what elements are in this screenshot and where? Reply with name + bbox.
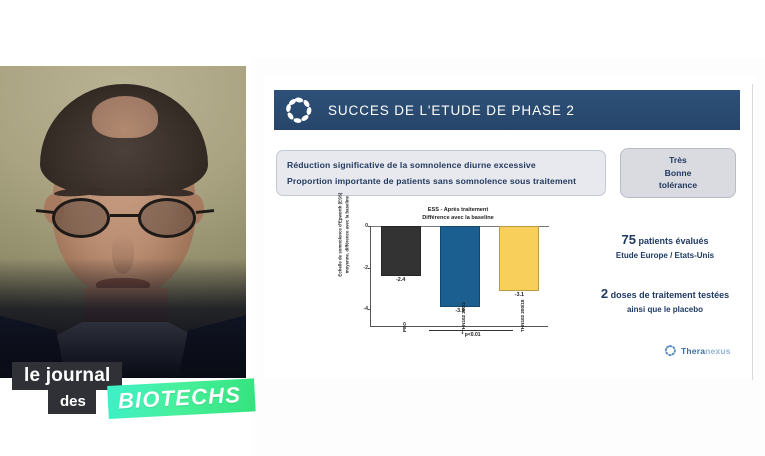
glasses-bridge bbox=[110, 214, 140, 217]
slide-title: SUCCES DE L'ETUDE DE PHASE 2 bbox=[328, 103, 575, 118]
chart-x-tick-label: THN102 200/18 bbox=[520, 300, 525, 332]
significance-label: * p<0.01 bbox=[429, 332, 513, 338]
significance-bracket bbox=[429, 330, 513, 331]
stat-patients-sub: Etude Europe / Etats-Unis bbox=[582, 250, 748, 263]
key-point-2: Proportion importante de patients sans s… bbox=[287, 174, 595, 190]
chart-y-tickmark-0 bbox=[368, 226, 372, 227]
chart-title-line-1: ESS - Après traitement bbox=[368, 206, 548, 214]
theranexus-brand: Theranexus bbox=[664, 344, 731, 357]
glasses-lens-left bbox=[52, 198, 110, 238]
theranexus-wordmark: Theranexus bbox=[681, 346, 731, 356]
chart-bar bbox=[381, 226, 421, 276]
chart-title-line-2: Différence avec la baseline bbox=[368, 214, 548, 222]
lower-third-line-3: BIOTECHS bbox=[107, 378, 256, 419]
brand-name-bold: Thera bbox=[681, 346, 705, 356]
slide-header-bar: SUCCES DE L'ETUDE DE PHASE 2 bbox=[274, 90, 740, 130]
key-point-1: Réduction significative de la somnolence… bbox=[287, 158, 595, 174]
chart-bar bbox=[440, 226, 480, 307]
chart-y-tick-1: -2 bbox=[358, 265, 368, 271]
tolerance-line-2: Bonne bbox=[665, 167, 692, 179]
stat-doses-main: 2 doses de traitement testées bbox=[582, 284, 748, 304]
glasses-lens-right bbox=[138, 198, 196, 238]
chart-bar-value: -3.1 bbox=[499, 292, 539, 298]
broadcast-stage: le journal des BIOTECHS Boursorama bbox=[0, 0, 765, 456]
stat-block-patients: 75 patients évalués Etude Europe / Etats… bbox=[582, 230, 748, 262]
boursorama-watermark: Boursorama bbox=[649, 8, 749, 24]
y-axis-label-line-2: moyenne, différence avec la baseline bbox=[344, 177, 351, 293]
stat-doses-text: doses de traitement testées bbox=[608, 290, 729, 300]
chart-bar bbox=[499, 226, 539, 291]
theranexus-burst-icon bbox=[284, 95, 314, 125]
lower-third-line-2: des bbox=[48, 390, 96, 414]
chart-title: ESS - Après traitement Différence avec l… bbox=[368, 206, 548, 223]
chart-y-tick-2: -4 bbox=[358, 306, 368, 312]
chart-y-tick-0: 0 bbox=[358, 223, 368, 229]
stat-patients-text: patients évalués bbox=[636, 236, 709, 246]
ess-bar-chart: ESS - Après traitement Différence avec l… bbox=[330, 206, 560, 364]
speaker-forehead bbox=[92, 96, 158, 138]
stat-doses-number: 2 bbox=[601, 286, 608, 301]
chart-bar-value: -3.9 bbox=[440, 308, 480, 314]
chart-y-axis-label: Echelle de somnolence d'Epworth (ESS) mo… bbox=[337, 177, 350, 293]
theranexus-burst-icon bbox=[664, 344, 677, 357]
y-axis-label-line-1: Echelle de somnolence d'Epworth (ESS) bbox=[337, 177, 344, 293]
slide-stats: 75 patients évalués Etude Europe / Etats… bbox=[582, 230, 748, 339]
brand-name-light: nexus bbox=[705, 346, 731, 356]
speaker-glasses-icon bbox=[48, 198, 202, 238]
presentation-slide: SUCCES DE L'ETUDE DE PHASE 2 Réduction s… bbox=[264, 76, 756, 378]
stat-patients-number: 75 bbox=[621, 232, 635, 247]
tolerance-line-1: Très bbox=[669, 154, 687, 166]
video-vignette bbox=[0, 258, 246, 378]
chart-y-tickmark-1 bbox=[368, 268, 372, 269]
chart-x-tick-label: PBO bbox=[402, 322, 407, 332]
tolerance-box: Très Bonne tolérance bbox=[620, 148, 736, 198]
lower-third-banner: le journal des BIOTECHS bbox=[12, 362, 242, 416]
tolerance-line-3: tolérance bbox=[659, 179, 697, 191]
boursorama-label: Boursorama bbox=[671, 9, 749, 24]
chart-y-tickmark-2 bbox=[368, 309, 372, 310]
chart-bar-value: -2.4 bbox=[381, 277, 421, 283]
stat-patients-main: 75 patients évalués bbox=[582, 230, 748, 250]
stat-block-doses: 2 doses de traitement testées ainsi que … bbox=[582, 284, 748, 316]
stat-doses-sub: ainsi que le placebo bbox=[582, 304, 748, 317]
key-points-box: Réduction significative de la somnolence… bbox=[276, 150, 606, 196]
lower-third-line-1: le journal bbox=[12, 362, 122, 390]
chart-x-tick-label: THN102 200/2 bbox=[461, 302, 466, 332]
arrow-logo-icon bbox=[649, 8, 665, 24]
slide-right-edge bbox=[752, 84, 753, 380]
speaker-video-feed bbox=[0, 66, 246, 378]
